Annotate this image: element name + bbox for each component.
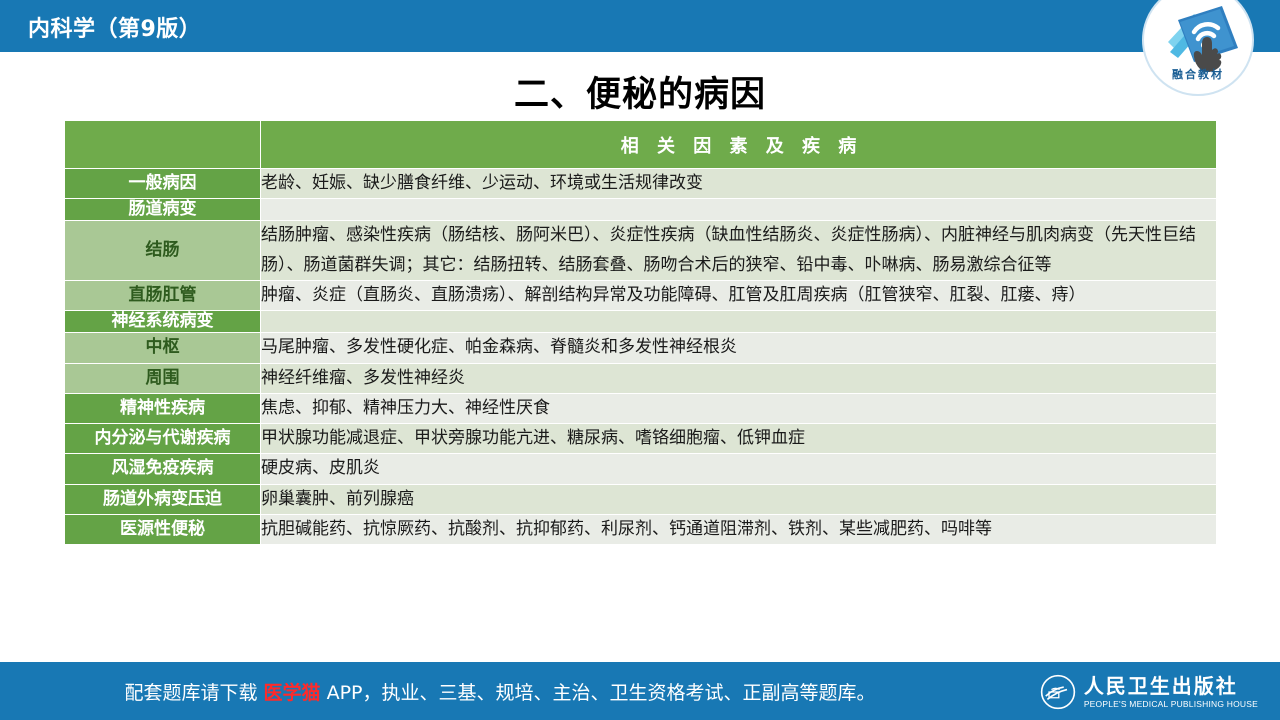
causes-table-body: 相 关 因 素 及 疾 病 一般病因老龄、妊娠、缺少膳食纤维、少运动、环境或生活… <box>65 121 1217 545</box>
row-label: 风湿免疫疾病 <box>65 454 261 484</box>
header-cell-factors: 相 关 因 素 及 疾 病 <box>261 121 1217 169</box>
row-label: 直肠肛管 <box>65 280 261 310</box>
row-value: 结肠肿瘤、感染性疾病（肠结核、肠阿米巴）、炎症性疾病（缺血性结肠炎、炎症性肠病）… <box>261 221 1217 280</box>
footer-text-after: APP，执业、三基、规培、主治、卫生资格考试、正副高等题库。 <box>321 682 876 704</box>
row-value: 抗胆碱能药、抗惊厥药、抗酸剂、抗抑郁药、利尿剂、钙通道阻滞剂、铁剂、某些减肥药、… <box>261 514 1217 544</box>
row-label: 中枢 <box>65 333 261 363</box>
table-row: 肠道病变 <box>65 199 1217 221</box>
table-row: 周围神经纤维瘤、多发性神经炎 <box>65 363 1217 393</box>
row-label: 一般病因 <box>65 169 261 199</box>
row-label: 内分泌与代谢疾病 <box>65 424 261 454</box>
table-row: 一般病因老龄、妊娠、缺少膳食纤维、少运动、环境或生活规律改变 <box>65 169 1217 199</box>
publisher-name-en: PEOPLE'S MEDICAL PUBLISHING HOUSE <box>1084 700 1258 709</box>
row-value: 肿瘤、炎症（直肠炎、直肠溃疡）、解剖结构异常及功能障碍、肛管及肛周疾病（肛管狭窄… <box>261 280 1217 310</box>
table-row: 直肠肛管肿瘤、炎症（直肠炎、直肠溃疡）、解剖结构异常及功能障碍、肛管及肛周疾病（… <box>65 280 1217 310</box>
publisher-text: 人民卫生出版社 PEOPLE'S MEDICAL PUBLISHING HOUS… <box>1084 676 1258 709</box>
causes-table: 相 关 因 素 及 疾 病 一般病因老龄、妊娠、缺少膳食纤维、少运动、环境或生活… <box>64 120 1217 545</box>
table-row: 结肠结肠肿瘤、感染性疾病（肠结核、肠阿米巴）、炎症性疾病（缺血性结肠炎、炎症性肠… <box>65 221 1217 280</box>
row-value <box>261 311 1217 333</box>
row-label: 精神性疾病 <box>65 393 261 423</box>
causes-table-wrapper: 相 关 因 素 及 疾 病 一般病因老龄、妊娠、缺少膳食纤维、少运动、环境或生活… <box>64 120 1216 545</box>
table-row: 风湿免疫疾病硬皮病、皮肌炎 <box>65 454 1217 484</box>
table-row: 肠道外病变压迫卵巢囊肿、前列腺癌 <box>65 484 1217 514</box>
row-value <box>261 199 1217 221</box>
header-cell-blank <box>65 121 261 169</box>
footer-text-before: 配套题库请下载 <box>124 682 263 704</box>
book-title: 内科学（第9版） <box>28 11 201 43</box>
row-value: 老龄、妊娠、缺少膳食纤维、少运动、环境或生活规律改变 <box>261 169 1217 199</box>
row-value: 神经纤维瘤、多发性神经炎 <box>261 363 1217 393</box>
publisher-logo: 人民卫生出版社 PEOPLE'S MEDICAL PUBLISHING HOUS… <box>1040 674 1258 710</box>
table-row: 神经系统病变 <box>65 311 1217 333</box>
row-label: 肠道外病变压迫 <box>65 484 261 514</box>
footer-promo-text: 配套题库请下载 医学猫 APP，执业、三基、规培、主治、卫生资格考试、正副高等题… <box>0 678 1000 705</box>
row-label: 周围 <box>65 363 261 393</box>
row-value: 硬皮病、皮肌炎 <box>261 454 1217 484</box>
row-value: 卵巢囊肿、前列腺癌 <box>261 484 1217 514</box>
table-row: 医源性便秘抗胆碱能药、抗惊厥药、抗酸剂、抗抑郁药、利尿剂、钙通道阻滞剂、铁剂、某… <box>65 514 1217 544</box>
pmph-logo-icon <box>1040 674 1076 710</box>
page-title: 二、便秘的病因 <box>0 66 1280 117</box>
top-bar: 内科学（第9版） <box>0 0 1280 52</box>
row-label: 肠道病变 <box>65 199 261 221</box>
table-row: 精神性疾病焦虑、抑郁、精神压力大、神经性厌食 <box>65 393 1217 423</box>
table-row: 内分泌与代谢疾病甲状腺功能减退症、甲状旁腺功能亢进、糖尿病、嗜铬细胞瘤、低钾血症 <box>65 424 1217 454</box>
table-row: 中枢马尾肿瘤、多发性硬化症、帕金森病、脊髓炎和多发性神经根炎 <box>65 333 1217 363</box>
row-value: 马尾肿瘤、多发性硬化症、帕金森病、脊髓炎和多发性神经根炎 <box>261 333 1217 363</box>
row-value: 甲状腺功能减退症、甲状旁腺功能亢进、糖尿病、嗜铬细胞瘤、低钾血症 <box>261 424 1217 454</box>
row-label: 神经系统病变 <box>65 311 261 333</box>
footer-app-name: 医学猫 <box>264 682 321 704</box>
bottom-bar: 配套题库请下载 医学猫 APP，执业、三基、规培、主治、卫生资格考试、正副高等题… <box>0 662 1280 720</box>
table-header-row: 相 关 因 素 及 疾 病 <box>65 121 1217 169</box>
row-label: 结肠 <box>65 221 261 280</box>
row-value: 焦虑、抑郁、精神压力大、神经性厌食 <box>261 393 1217 423</box>
slide-root: 内科学（第9版） 融合教材 二、便秘的病因 <box>0 0 1280 720</box>
row-label: 医源性便秘 <box>65 514 261 544</box>
publisher-name-cn: 人民卫生出版社 <box>1084 676 1258 696</box>
